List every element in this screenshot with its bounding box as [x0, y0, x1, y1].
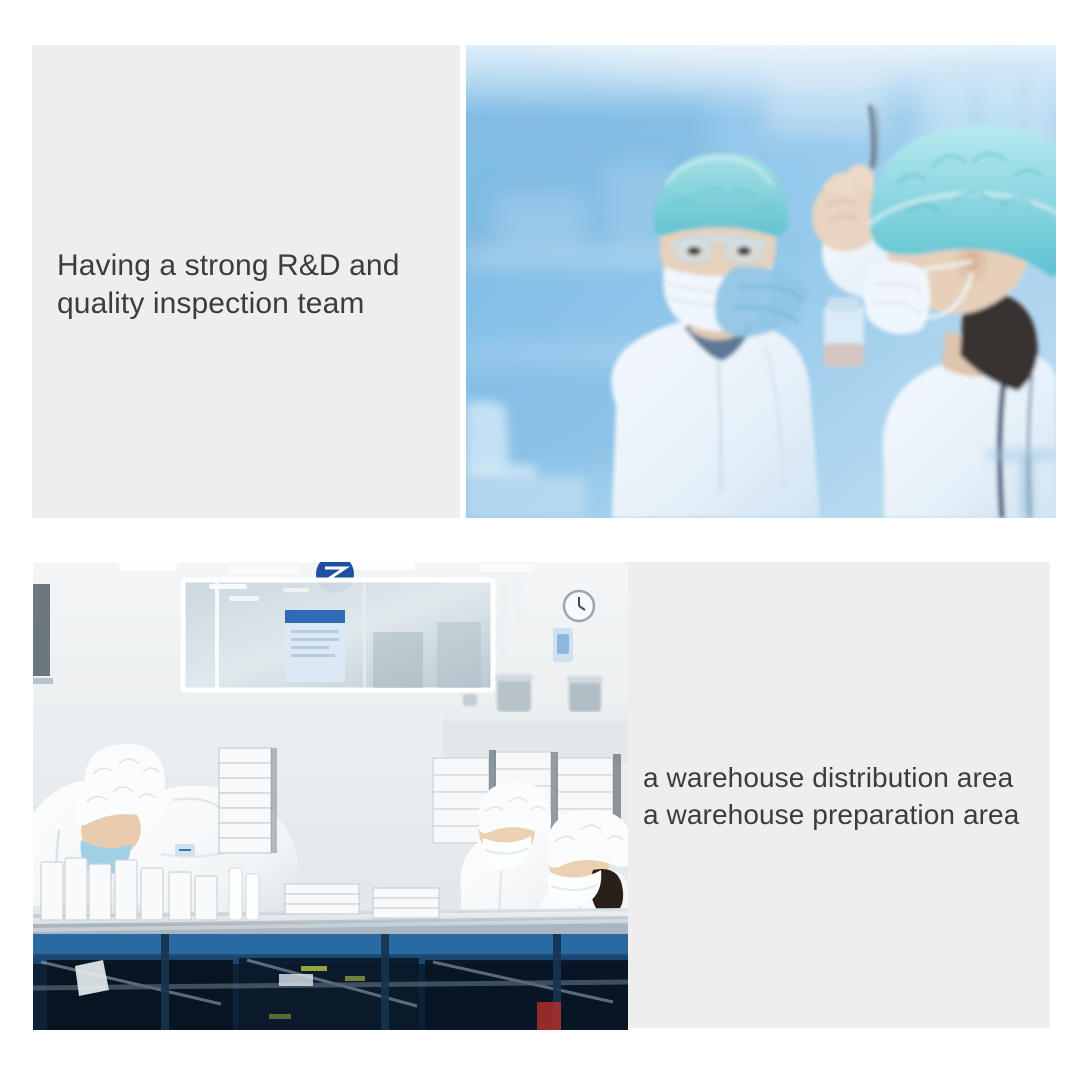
lab-section: Having a strong R&D and quality inspecti… — [0, 0, 1080, 540]
warehouse-section: a warehouse distribution area a warehous… — [0, 540, 1080, 1080]
warehouse-caption: a warehouse distribution area a warehous… — [643, 760, 1048, 834]
lab-photo-illustration — [466, 45, 1056, 518]
lab-caption: Having a strong R&D and quality inspecti… — [57, 247, 447, 324]
carton-stack-centre — [219, 748, 277, 853]
lab-text-panel: Having a strong R&D and quality inspecti… — [32, 45, 460, 518]
wall-clock — [564, 591, 594, 621]
warehouse-packing-photo — [33, 562, 628, 1030]
warehouse-text-panel: a warehouse distribution area a warehous… — [628, 562, 1050, 1028]
lab-quality-inspection-photo — [466, 45, 1056, 518]
wall-notice-board — [285, 610, 345, 682]
warehouse-photo-illustration — [33, 562, 628, 1030]
